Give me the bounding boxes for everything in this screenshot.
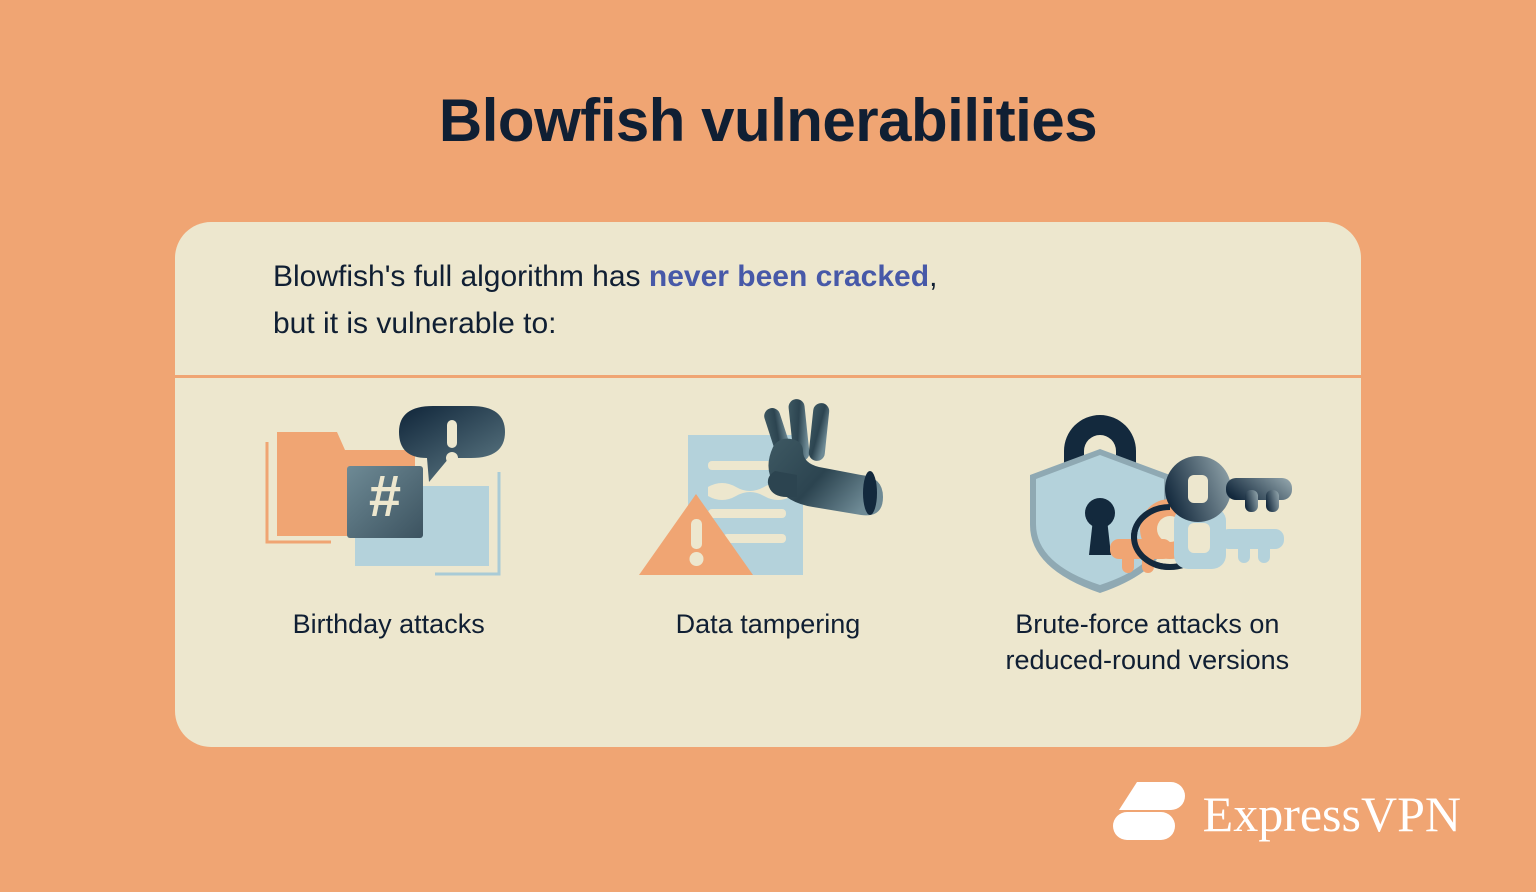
expressvpn-e-mark-icon — [1113, 780, 1185, 847]
document-hand-warning-icon — [618, 386, 918, 602]
list-item-label: Brute-force attacks on reduced-round ver… — [972, 606, 1322, 679]
expressvpn-logo: ExpressVPN — [1113, 780, 1461, 847]
intro-line2: but it is vulnerable to: — [273, 307, 557, 340]
list-item: Brute-force attacks on reduced-round ver… — [967, 378, 1327, 679]
intro-highlight: never been cracked — [649, 260, 929, 293]
list-item-label: Data tampering — [676, 606, 861, 642]
padlock-keys-icon — [997, 386, 1297, 602]
list-item: # Birthday attacks — [209, 378, 569, 642]
svg-text:#: # — [369, 464, 401, 529]
expressvpn-wordmark: ExpressVPN — [1203, 789, 1461, 839]
card-header: Blowfish's full algorithm has never been… — [175, 222, 1361, 375]
vulnerabilities-card: Blowfish's full algorithm has never been… — [175, 222, 1361, 747]
page-title: Blowfish vulnerabilities — [0, 88, 1536, 154]
vulnerability-list: # Birthday attacks — [175, 378, 1361, 747]
intro-text-part1: Blowfish's full algorithm has — [273, 260, 649, 293]
folder-hash-alert-icon: # — [239, 386, 539, 602]
list-item: Data tampering — [588, 378, 948, 642]
card-intro-text: Blowfish's full algorithm has never been… — [273, 254, 1233, 347]
list-item-label: Birthday attacks — [293, 606, 485, 642]
intro-text-part2: , — [929, 260, 937, 293]
